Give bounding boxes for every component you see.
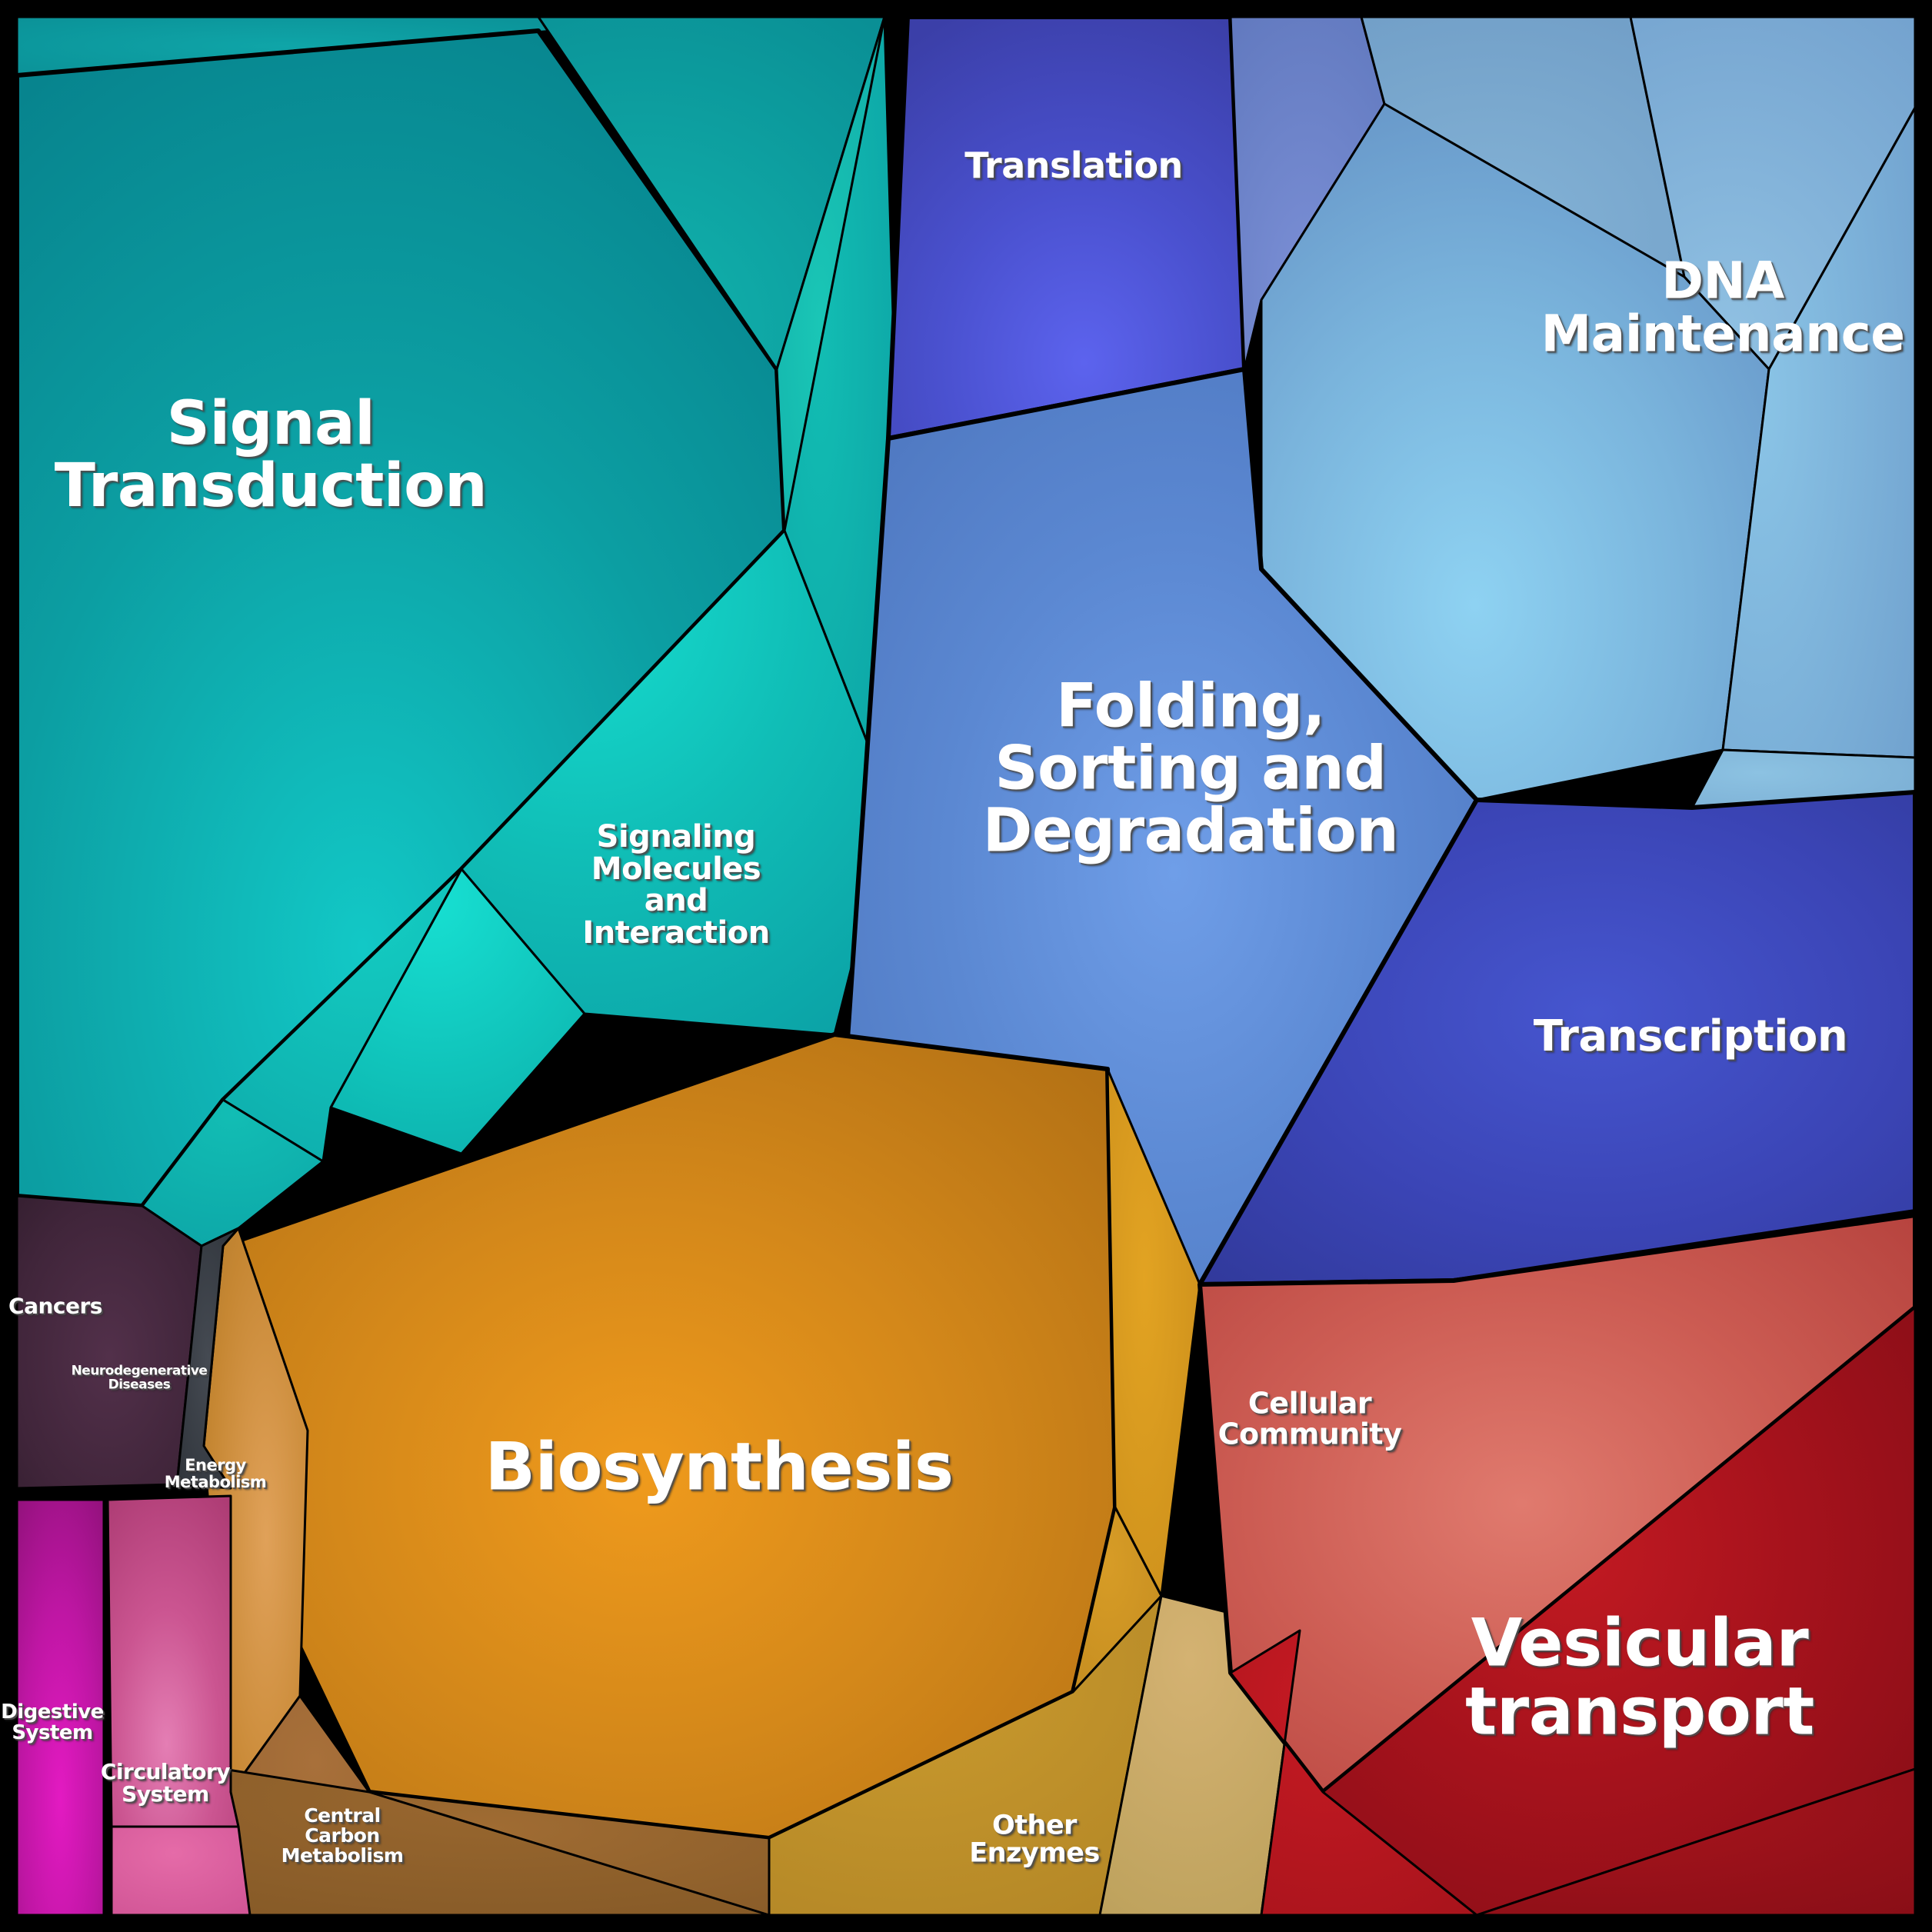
treemap-cell-digestive-system[interactable]: [17, 1500, 104, 1915]
voronoi-treemap-figure: Signal TransductionSignaling Molecules a…: [0, 0, 1932, 1932]
treemap-canvas: [0, 0, 1932, 1932]
treemap-cells: [17, 17, 1915, 1915]
treemap-cell-translation[interactable]: [888, 17, 1244, 438]
treemap-cell-cancers[interactable]: [17, 1196, 202, 1488]
treemap-cell-circulatory-system[interactable]: [112, 1827, 250, 1915]
treemap-cell-hd-pink[interactable]: [108, 1496, 238, 1827]
